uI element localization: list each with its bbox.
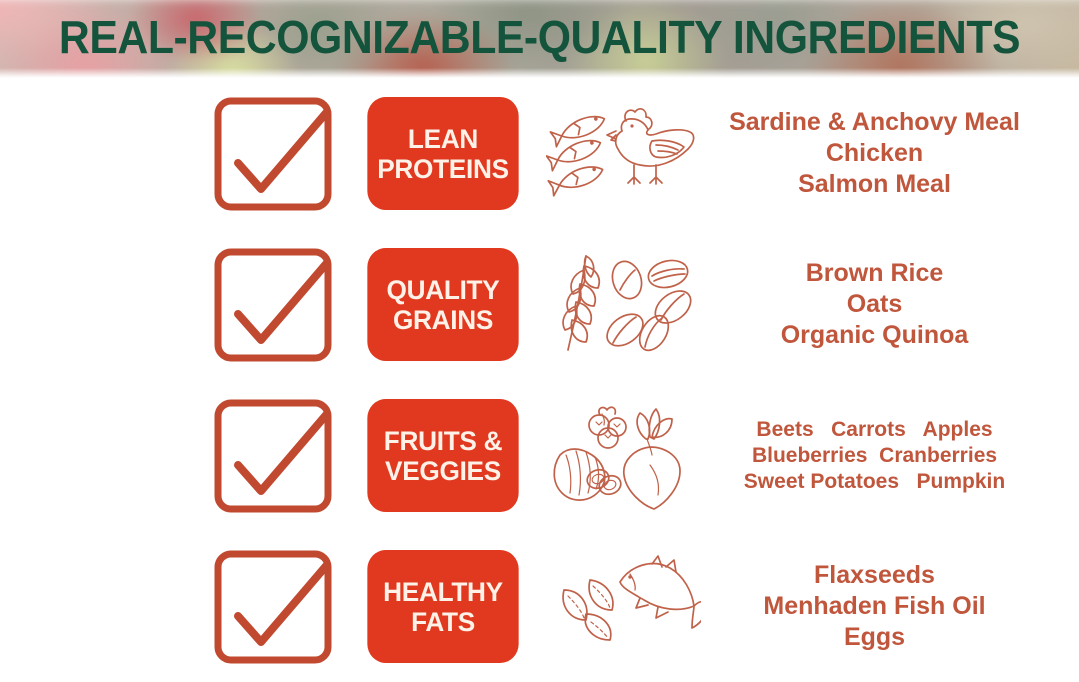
sweet-potato-berries-beet-icon — [546, 401, 701, 511]
badge-line-2: PROTEINS — [377, 154, 509, 184]
badge-cell: HEALTHY FATS — [358, 550, 528, 663]
badge-line-1: HEALTHY — [383, 577, 503, 607]
checkbox-checked-icon[interactable] — [214, 97, 332, 211]
ingredient-list-healthy-fats: Flaxseeds Menhaden Fish Oil Eggs — [718, 560, 1079, 653]
category-badge-healthy-fats[interactable]: HEALTHY FATS — [367, 550, 518, 663]
ingredient-row-fruits-veggies: FRUITS & VEGGIES — [0, 380, 1079, 531]
ingredient-line: Flaxseeds — [718, 560, 1031, 591]
badge-cell: QUALITY GRAINS — [358, 248, 528, 361]
badge-line-2: GRAINS — [393, 305, 493, 335]
fish-and-chicken-icon — [546, 99, 701, 209]
checkbox-cell — [188, 248, 358, 362]
ingredient-line: Beets Carrots Apples — [718, 417, 1031, 443]
ingredient-line: Oats — [718, 289, 1031, 320]
ingredient-line: Salmon Meal — [718, 169, 1031, 200]
badge-cell: LEAN PROTEINS — [358, 97, 528, 210]
ingredient-line: Chicken — [718, 138, 1031, 169]
flaxseeds-and-fish-icon — [546, 552, 701, 662]
checkbox-cell — [188, 550, 358, 664]
ingredient-list-quality-grains: Brown Rice Oats Organic Quinoa — [718, 258, 1079, 351]
checkbox-cell — [188, 97, 358, 211]
badge-line-1: LEAN — [408, 124, 478, 154]
badge-line-2: VEGGIES — [385, 456, 501, 486]
ingredient-list-lean-proteins: Sardine & Anchovy Meal Chicken Salmon Me… — [718, 107, 1079, 200]
ingredient-line: Blueberries Cranberries — [718, 443, 1031, 469]
ingredient-line: Organic Quinoa — [718, 320, 1031, 351]
ingredient-line: Sweet Potatoes Pumpkin — [718, 469, 1031, 495]
checkbox-checked-icon[interactable] — [214, 399, 332, 513]
badge-line-2: FATS — [411, 607, 475, 637]
badge-line-1: QUALITY — [387, 275, 500, 305]
ingredient-rows: LEAN PROTEINS — [0, 78, 1079, 682]
ingredient-line: Sardine & Anchovy Meal — [718, 107, 1031, 138]
icon-cell — [528, 99, 718, 209]
grain-sprig-and-seeds-icon — [546, 250, 701, 360]
category-badge-quality-grains[interactable]: QUALITY GRAINS — [367, 248, 518, 361]
ingredient-row-lean-proteins: LEAN PROTEINS — [0, 78, 1079, 229]
ingredient-line: Eggs — [718, 622, 1031, 653]
header-banner: REAL-RECOGNIZABLE-QUALITY INGREDIENTS — [0, 0, 1079, 78]
page-title: REAL-RECOGNIZABLE-QUALITY INGREDIENTS — [38, 4, 1041, 70]
ingredient-row-healthy-fats: HEALTHY FATS — [0, 531, 1079, 682]
ingredient-row-quality-grains: QUALITY GRAINS — [0, 229, 1079, 380]
icon-cell — [528, 401, 718, 511]
badge-line-1: FRUITS & — [384, 426, 502, 456]
badge-cell: FRUITS & VEGGIES — [358, 399, 528, 512]
banner-bottom-fade — [0, 68, 1079, 78]
icon-cell — [528, 250, 718, 360]
category-badge-lean-proteins[interactable]: LEAN PROTEINS — [367, 97, 518, 210]
ingredient-line: Menhaden Fish Oil — [718, 591, 1031, 622]
ingredient-list-fruits-veggies: Beets Carrots Apples Blueberries Cranber… — [718, 417, 1079, 495]
category-badge-fruits-veggies[interactable]: FRUITS & VEGGIES — [367, 399, 518, 512]
checkbox-cell — [188, 399, 358, 513]
icon-cell — [528, 552, 718, 662]
ingredient-line: Brown Rice — [718, 258, 1031, 289]
checkbox-checked-icon[interactable] — [214, 550, 332, 664]
checkbox-checked-icon[interactable] — [214, 248, 332, 362]
